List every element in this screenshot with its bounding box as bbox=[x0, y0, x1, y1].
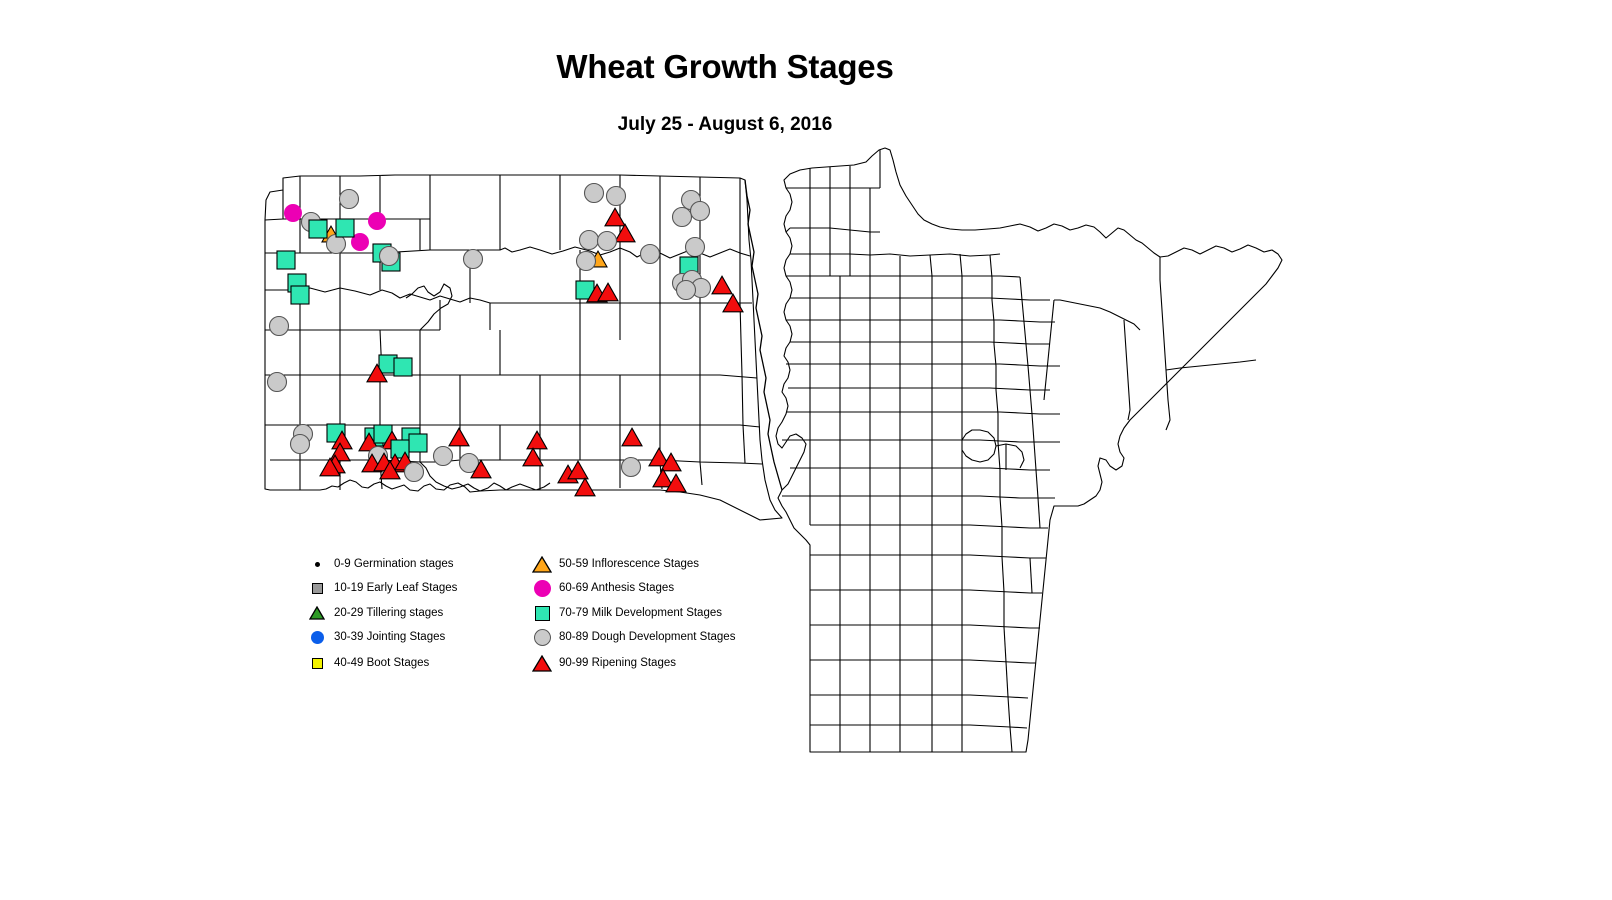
legend-item-dough: 80-89 Dough Development Stages bbox=[525, 626, 735, 651]
legend-item-jointing: 30-39 Jointing Stages bbox=[300, 626, 457, 651]
map-marker-dough bbox=[686, 238, 705, 257]
map-marker-milk bbox=[409, 434, 427, 452]
jointing-circle-icon bbox=[300, 626, 334, 650]
map-marker-dough bbox=[268, 373, 287, 392]
anthesis-circle-icon bbox=[525, 577, 559, 601]
map-marker-anthesis bbox=[368, 212, 386, 230]
legend-label-jointing: 30-39 Jointing Stages bbox=[334, 632, 445, 644]
map-marker-ripening bbox=[712, 276, 732, 294]
tillering-triangle-icon bbox=[300, 601, 334, 625]
ripening-triangle-icon bbox=[525, 652, 559, 676]
map-marker-dough bbox=[691, 202, 710, 221]
legend-item-ripening: 90-99 Ripening Stages bbox=[525, 650, 735, 677]
legend-item-anthesis: 60-69 Anthesis Stages bbox=[525, 577, 735, 602]
map-marker-dough bbox=[598, 232, 617, 251]
map-marker-dough bbox=[580, 231, 599, 250]
map-marker-dough bbox=[380, 247, 399, 266]
map-marker-ripening bbox=[527, 431, 547, 449]
legend-label-anthesis: 60-69 Anthesis Stages bbox=[559, 583, 674, 595]
map-marker-dough bbox=[464, 250, 483, 269]
map-marker-ripening bbox=[615, 224, 635, 242]
map-marker-dough bbox=[673, 208, 692, 227]
map-marker-dough bbox=[622, 458, 641, 477]
legend-label-inflorescence: 50-59 Inflorescence Stages bbox=[559, 559, 699, 571]
map-marker-milk bbox=[336, 219, 354, 237]
legend-label-tillering: 20-29 Tillering stages bbox=[334, 608, 443, 620]
map-marker-dough bbox=[291, 435, 310, 454]
map-marker-ripening bbox=[449, 428, 469, 446]
legend-item-tillering: 20-29 Tillering stages bbox=[300, 601, 457, 626]
dough-circle-icon bbox=[525, 626, 559, 650]
legend-label-milk: 70-79 Milk Development Stages bbox=[559, 608, 722, 620]
map-marker-milk bbox=[309, 220, 327, 238]
legend-label-dough: 80-89 Dough Development Stages bbox=[559, 632, 735, 644]
data-markers bbox=[268, 184, 744, 496]
milk-square-icon bbox=[525, 601, 559, 625]
map-marker-dough bbox=[434, 447, 453, 466]
legend-label-germination: 0-9 Germination stages bbox=[334, 559, 454, 571]
legend-item-early-leaf: 10-19 Early Leaf Stages bbox=[300, 577, 457, 602]
map-marker-dough bbox=[340, 190, 359, 209]
map-marker-ripening bbox=[575, 478, 595, 496]
map-marker-dough bbox=[405, 463, 424, 482]
map-marker-dough bbox=[607, 187, 626, 206]
legend-label-early-leaf: 10-19 Early Leaf Stages bbox=[334, 583, 457, 595]
legend-column-left: 0-9 Germination stages 10-19 Early Leaf … bbox=[300, 552, 457, 677]
map-legend: 0-9 Germination stages 10-19 Early Leaf … bbox=[300, 552, 770, 687]
map-canvas bbox=[0, 0, 1612, 900]
map-marker-milk bbox=[277, 251, 295, 269]
map-marker-dough bbox=[677, 281, 696, 300]
map-page: Wheat Growth Stages July 25 - August 6, … bbox=[0, 0, 1612, 900]
legend-item-germination: 0-9 Germination stages bbox=[300, 552, 457, 577]
map-marker-dough bbox=[641, 245, 660, 264]
germination-dot-icon bbox=[300, 552, 334, 576]
legend-item-boot: 40-49 Boot Stages bbox=[300, 650, 457, 677]
boot-square-icon bbox=[300, 652, 334, 676]
map-marker-anthesis bbox=[284, 204, 302, 222]
map-marker-dough bbox=[270, 317, 289, 336]
legend-item-inflorescence: 50-59 Inflorescence Stages bbox=[525, 552, 735, 577]
map-marker-ripening bbox=[605, 208, 625, 226]
early-leaf-square-icon bbox=[300, 577, 334, 601]
map-marker-dough bbox=[577, 252, 596, 271]
legend-item-milk: 70-79 Milk Development Stages bbox=[525, 601, 735, 626]
map-marker-ripening bbox=[622, 428, 642, 446]
map-marker-milk bbox=[291, 286, 309, 304]
legend-label-boot: 40-49 Boot Stages bbox=[334, 658, 429, 670]
legend-label-ripening: 90-99 Ripening Stages bbox=[559, 658, 676, 670]
map-marker-dough bbox=[585, 184, 604, 203]
map-graphic bbox=[0, 0, 1612, 900]
legend-column-right: 50-59 Inflorescence Stages 60-69 Anthesi… bbox=[525, 552, 735, 677]
inflorescence-triangle-icon bbox=[525, 552, 559, 576]
map-marker-milk bbox=[394, 358, 412, 376]
